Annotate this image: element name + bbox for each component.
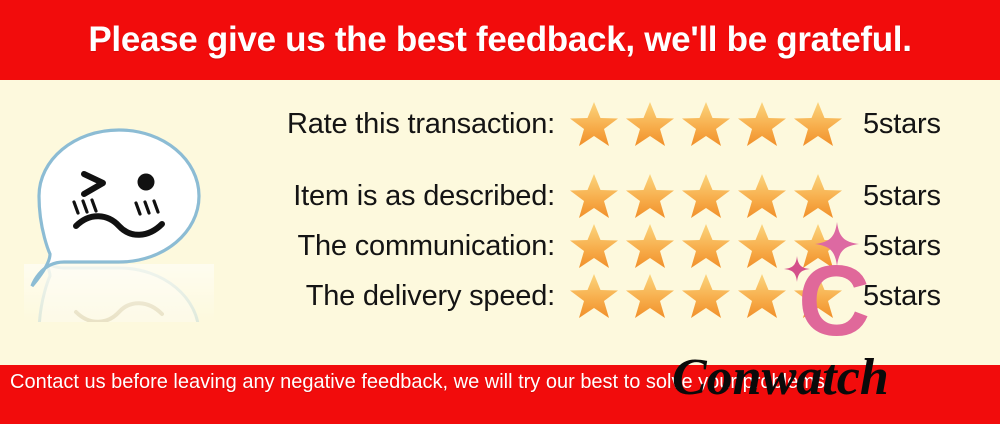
bubble-shape: [32, 130, 199, 286]
star-icon: [793, 100, 843, 148]
rating-value: 5stars: [863, 108, 941, 141]
rating-row: The delivery speed:: [245, 273, 965, 319]
star-icon: [793, 172, 843, 220]
rating-value: 5stars: [863, 180, 941, 213]
header-title: Please give us the best feedback, we'll …: [88, 20, 911, 60]
star-icon: [737, 272, 787, 320]
star-icon: [681, 222, 731, 270]
rating-value: 5stars: [863, 230, 941, 263]
star-icon: [737, 222, 787, 270]
mascot-speech-bubble-face-icon: [24, 122, 214, 322]
star-rating-row: [569, 100, 849, 148]
footer-text: Contact us before leaving any negative f…: [10, 371, 995, 394]
star-icon: [625, 100, 675, 148]
footer-banner: Contact us before leaving any negative f…: [0, 365, 1000, 424]
star-icon: [793, 272, 843, 320]
rating-label: The communication:: [245, 230, 555, 263]
rating-row: The communication:: [245, 223, 965, 269]
star-icon: [681, 272, 731, 320]
star-icon: [625, 172, 675, 220]
right-eye-dot-icon: [138, 174, 155, 191]
star-icon: [793, 222, 843, 270]
ratings-list: Rate this transaction:: [245, 95, 965, 325]
star-rating-row: [569, 222, 849, 270]
feedback-banner-image: Please give us the best feedback, we'll …: [0, 0, 1000, 424]
star-icon: [569, 172, 619, 220]
star-rating-row: [569, 272, 849, 320]
star-icon: [737, 100, 787, 148]
rating-value: 5stars: [863, 280, 941, 313]
rating-label: Item is as described:: [245, 180, 555, 213]
star-icon: [681, 100, 731, 148]
star-icon: [681, 172, 731, 220]
star-icon: [625, 272, 675, 320]
rating-row: Rate this transaction:: [245, 101, 965, 147]
star-icon: [569, 222, 619, 270]
star-rating-row: [569, 172, 849, 220]
star-icon: [569, 272, 619, 320]
rating-row: Item is as described:: [245, 173, 965, 219]
star-icon: [625, 222, 675, 270]
rating-label: The delivery speed:: [245, 280, 555, 313]
star-icon: [737, 172, 787, 220]
star-icon: [569, 100, 619, 148]
header-banner: Please give us the best feedback, we'll …: [0, 0, 1000, 80]
rating-label: Rate this transaction:: [245, 108, 555, 141]
